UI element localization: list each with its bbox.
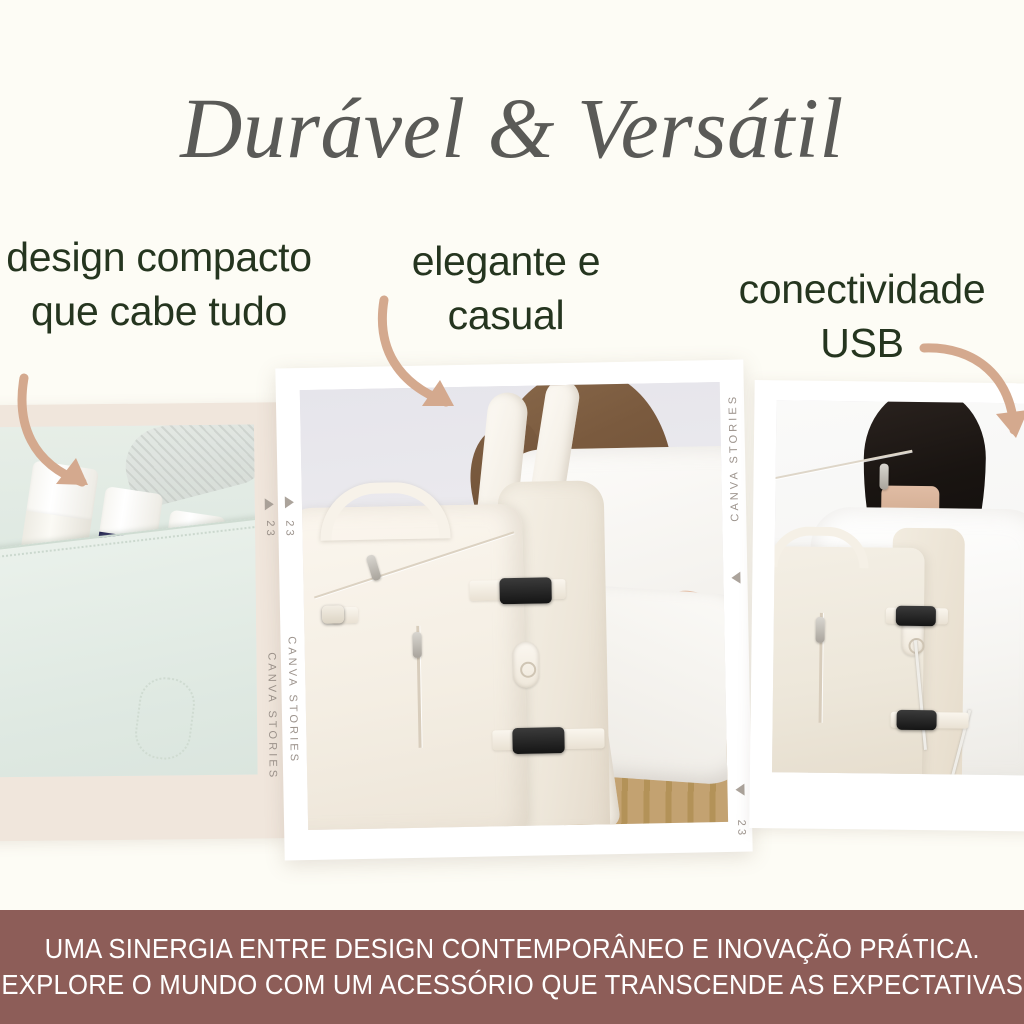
film-frame-number-right: 23 [264, 520, 276, 539]
film-label-canva-stories-center-right: CANVA STORIES [727, 394, 741, 522]
photo-left [0, 424, 258, 777]
photo-frame-center[interactable]: CANVA STORIES 23 CANVA STORIES 23 [275, 360, 752, 861]
triangle-marker-icon-center-mid [731, 572, 740, 584]
banner-line-1: UMA SINERGIA ENTRE DESIGN CONTEMPORÂNEO … [44, 933, 979, 965]
zipper-pull-icon-right-top [879, 464, 888, 490]
triangle-marker-icon-right [265, 498, 274, 510]
film-label-canva-stories-right: CANVA STORIES [265, 652, 278, 780]
photo-frame-right[interactable]: CANVA STORIES 23 [749, 380, 1024, 832]
caption-right: conectividade USB [700, 262, 1024, 370]
buckle-icon-top [499, 577, 551, 604]
photo-center [300, 382, 728, 830]
film-frame-number-center-right: 23 [735, 819, 747, 838]
zipper-pull-icon-right [816, 617, 825, 643]
caption-left: design compacto que cabe tudo [0, 230, 320, 338]
buckle-icon-right-top [896, 606, 936, 626]
film-label-canva-stories-center: CANVA STORIES [285, 636, 299, 764]
caption-center: elegante e casual [350, 234, 662, 342]
triangle-marker-icon-center [285, 496, 294, 508]
film-frame-number-center: 23 [283, 520, 295, 539]
bottom-banner: UMA SINERGIA ENTRE DESIGN CONTEMPORÂNEO … [0, 910, 1024, 1024]
banner-line-2: EXPLORE O MUNDO COM UM ACESSÓRIO QUE TRA… [1, 969, 1023, 1001]
photo-frame-left[interactable]: CANVA STORIES 23 CANVA STORIES 23 [0, 402, 285, 842]
page-title: Durável & Versátil [0, 78, 1024, 178]
promo-poster: Durável & Versátil CANVA STORIES 23 CANV… [0, 0, 1024, 1024]
triangle-marker-icon-center-right [735, 784, 744, 796]
photo-right [772, 400, 1024, 775]
buckle-icon-right-bottom [896, 710, 936, 730]
buckle-icon-bottom [512, 727, 564, 754]
zipper-pull-icon-2 [412, 632, 421, 658]
side-clip-icon [322, 605, 344, 623]
usb-port-icon [513, 642, 540, 688]
